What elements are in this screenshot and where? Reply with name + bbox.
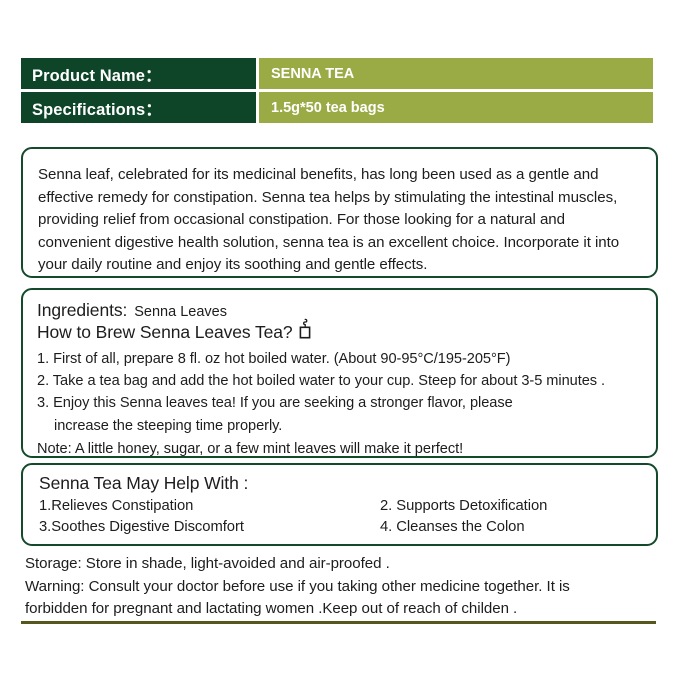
- brewing-panel: Ingredients: Senna Leaves How to Brew Se…: [21, 288, 658, 458]
- ingredients-label: Ingredients:: [37, 300, 127, 321]
- benefits-grid: 1.Relieves Constipation 2. Supports Deto…: [39, 496, 644, 539]
- benefit-item: 2. Supports Detoxification: [380, 496, 640, 517]
- storage-text: Storage: Store in shade, light-avoided a…: [25, 553, 650, 576]
- benefits-heading: Senna Tea May Help With :: [39, 473, 644, 494]
- spec-key-specifications: Specifications：: [21, 92, 256, 123]
- footer-block: Storage: Store in shade, light-avoided a…: [25, 553, 650, 621]
- brew-steps-list: 1. First of all, prepare 8 fl. oz hot bo…: [37, 348, 644, 437]
- ingredients-value: Senna Leaves: [134, 304, 227, 320]
- warning-text-line-1: Warning: Consult your doctor before use …: [25, 576, 650, 599]
- brew-heading-line: How to Brew Senna Leaves Tea?: [37, 322, 644, 345]
- benefit-item: 4. Cleanses the Colon: [380, 517, 640, 538]
- spec-table: Product Name： SENNA TEA Specifications： …: [21, 58, 653, 126]
- spec-row-product-name: Product Name： SENNA TEA: [21, 58, 653, 89]
- product-label-page: Product Name： SENNA TEA Specifications： …: [0, 0, 679, 679]
- brew-step: 2. Take a tea bag and add the hot boiled…: [37, 370, 644, 392]
- footer-divider-rule: [21, 621, 656, 624]
- spec-value-specifications: 1.5g*50 tea bags: [259, 92, 653, 123]
- description-panel: Senna leaf, celebrated for its medicinal…: [21, 147, 658, 278]
- tea-bag-icon: [298, 318, 312, 345]
- benefits-panel: Senna Tea May Help With : 1.Relieves Con…: [21, 463, 658, 546]
- description-text: Senna leaf, celebrated for its medicinal…: [38, 164, 639, 277]
- brew-step-continuation: increase the steeping time properly.: [37, 415, 644, 437]
- brew-heading: How to Brew Senna Leaves Tea?: [37, 322, 293, 343]
- brew-note: Note: A little honey, sugar, or a few mi…: [37, 438, 644, 460]
- ingredients-line: Ingredients: Senna Leaves: [37, 300, 644, 321]
- benefit-item: 3.Soothes Digestive Discomfort: [39, 517, 380, 538]
- spec-value-product-name: SENNA TEA: [259, 58, 653, 89]
- spec-row-specifications: Specifications： 1.5g*50 tea bags: [21, 92, 653, 123]
- warning-text-line-2: forbidden for pregnant and lactating wom…: [25, 598, 650, 621]
- brew-step: 1. First of all, prepare 8 fl. oz hot bo…: [37, 348, 644, 370]
- brew-step: 3. Enjoy this Senna leaves tea! If you a…: [37, 392, 644, 414]
- benefit-item: 1.Relieves Constipation: [39, 496, 380, 517]
- spec-key-product-name: Product Name：: [21, 58, 256, 89]
